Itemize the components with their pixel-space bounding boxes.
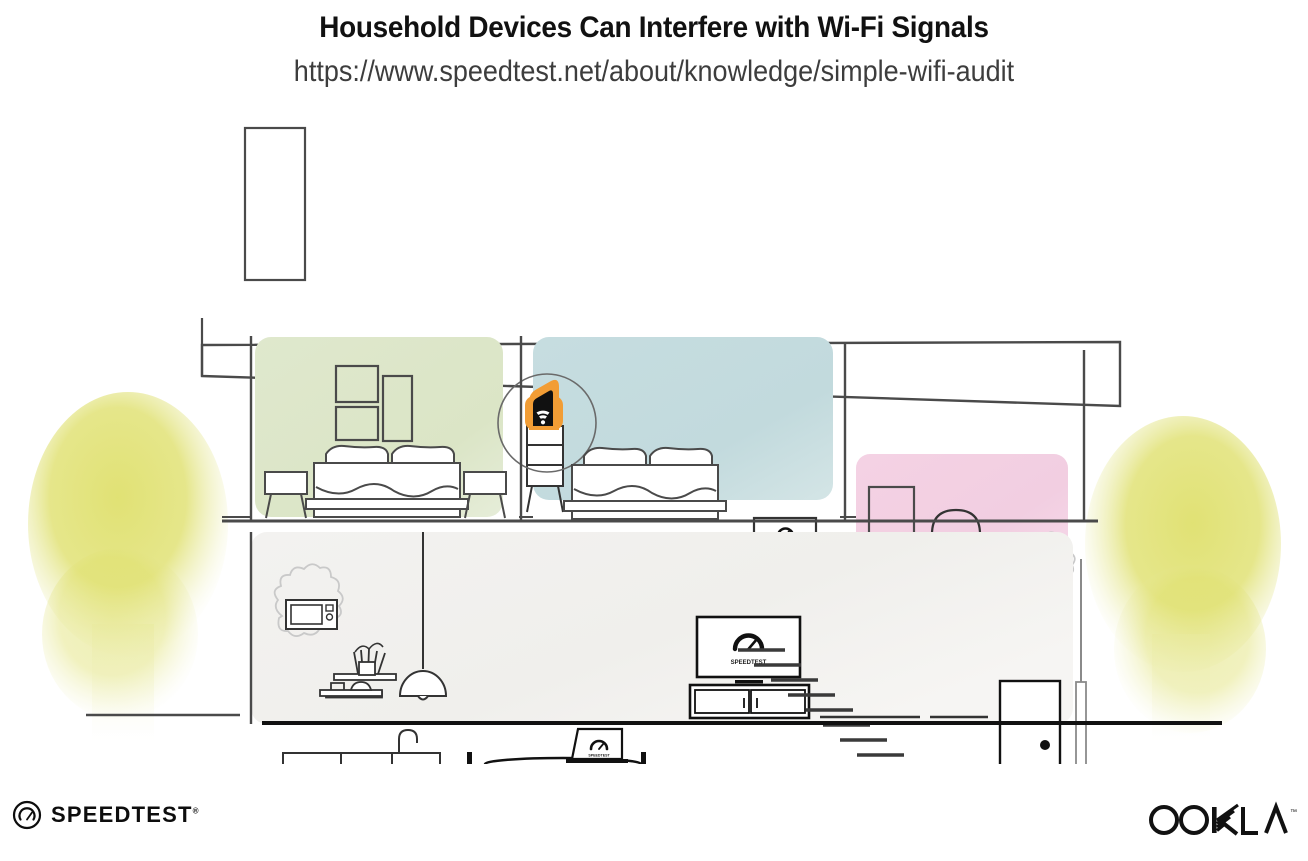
kitchen-cabinets [283,730,440,764]
laptop-screen-label: SPEEDTEST [588,754,610,758]
sidelight-window [1076,559,1086,764]
house-illustration: SPEEDTEST [0,104,1308,764]
speedtest-gauge-icon [12,800,42,830]
media-console [690,685,809,718]
speedtest-logo: SPEEDTEST® [12,800,199,830]
tree-left [28,392,228,742]
chimney [245,128,305,280]
page-url: https://www.speedtest.net/about/knowledg… [65,53,1242,91]
speedtest-logo-text: SPEEDTEST® [51,804,199,826]
ookla-trademark: ™ [1290,809,1297,816]
laptop[interactable]: SPEEDTEST [566,729,628,763]
ookla-k-letter [1212,805,1238,834]
sink-faucet [399,730,417,753]
bed [564,448,726,519]
microwave[interactable] [286,600,337,629]
door-knob [1040,740,1050,750]
ookla-logo-mark: ™ [1142,798,1308,842]
house-cutaway-svg: SPEEDTEST [0,104,1308,764]
left-bedroom [222,336,516,524]
speedtest-trademark: ® [193,807,199,816]
ookla-logo: ™ [1142,798,1308,842]
page-footer: SPEEDTEST® ™ [0,764,1308,861]
bed [306,446,468,517]
page-title: Household Devices Can Interfere with Wi-… [46,8,1262,49]
tree-right [1085,416,1281,742]
lower-floor: SPEEDTEST [251,532,1073,764]
page-header: Household Devices Can Interfere with Wi-… [0,0,1308,108]
